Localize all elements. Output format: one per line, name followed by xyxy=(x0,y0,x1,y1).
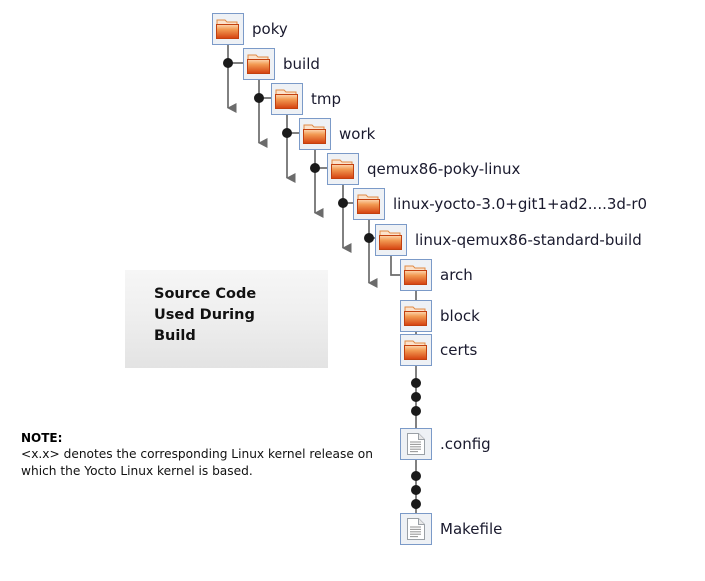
folder-icon xyxy=(299,118,331,150)
tree-node-label: Makefile xyxy=(440,521,502,537)
folder-icon xyxy=(400,334,432,366)
folder-icon xyxy=(243,48,275,80)
note-title: NOTE: xyxy=(21,430,381,446)
tree-node-label: .config xyxy=(440,436,491,452)
ellipsis-dot xyxy=(411,406,421,416)
folder-icon xyxy=(400,300,432,332)
branch-dot xyxy=(364,233,374,243)
source-code-callout-text: Source Code Used During Build xyxy=(154,284,256,347)
tree-node-label: tmp xyxy=(311,91,341,107)
connector-lines xyxy=(0,0,705,581)
branch-dot xyxy=(338,198,348,208)
folder-icon xyxy=(271,83,303,115)
tree-node-label: linux-yocto-3.0+git1+ad2....3d-r0 xyxy=(393,196,647,212)
diagram-canvas: Source Code Used During Build NOTE: <x.x… xyxy=(0,0,705,581)
branch-dot xyxy=(282,128,292,138)
tree-node-label: qemux86-poky-linux xyxy=(367,161,520,177)
branch-dot xyxy=(254,93,264,103)
ellipsis-dot xyxy=(411,392,421,402)
tree-node-label: block xyxy=(440,308,480,324)
file-icon xyxy=(400,428,432,460)
tree-node-label: arch xyxy=(440,267,473,283)
ellipsis-dot xyxy=(411,499,421,509)
branch-dot xyxy=(223,58,233,68)
tree-node-label: poky xyxy=(252,21,288,37)
ellipsis-dot xyxy=(411,471,421,481)
ellipsis-dot xyxy=(411,378,421,388)
tree-node-label: build xyxy=(283,56,320,72)
folder-icon xyxy=(400,259,432,291)
tree-node-label: certs xyxy=(440,342,477,358)
branch-dot xyxy=(310,163,320,173)
folder-icon xyxy=(375,224,407,256)
folder-icon xyxy=(353,188,385,220)
folder-icon xyxy=(327,153,359,185)
folder-icon xyxy=(212,13,244,45)
source-code-callout: Source Code Used During Build xyxy=(125,270,328,368)
tree-node-label: work xyxy=(339,126,375,142)
note-body: <x.x> denotes the corresponding Linux ke… xyxy=(21,446,381,480)
file-icon xyxy=(400,513,432,545)
note-block: NOTE: <x.x> denotes the corresponding Li… xyxy=(21,430,381,480)
ellipsis-dot xyxy=(411,485,421,495)
tree-node-label: linux-qemux86-standard-build xyxy=(415,232,642,248)
